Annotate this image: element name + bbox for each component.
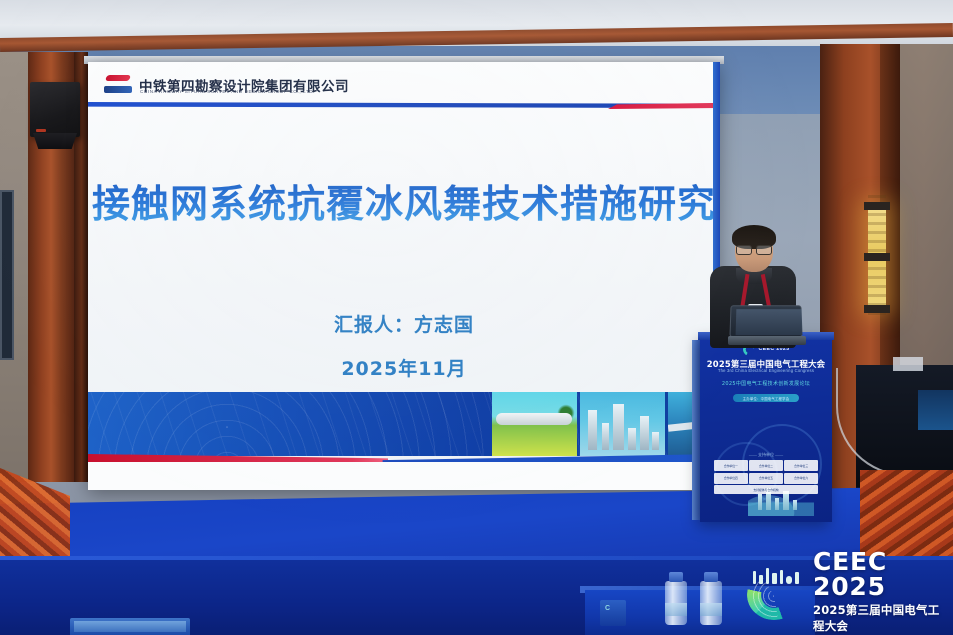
bottle-label (700, 603, 722, 616)
ceec-watermark: CEEC 2025 2025第三届中国电气工程大会 (745, 555, 945, 627)
projection-screen: 中铁第四勘察设计院集团有限公司 CHINA RAILWAY SIYUAN SUR… (88, 62, 720, 490)
laptop-base (728, 336, 806, 345)
photo-railway-station (492, 392, 577, 456)
sponsor-cell: 合作单位五 (749, 473, 783, 484)
left-doorway (0, 190, 14, 360)
glasses-icon (736, 245, 772, 253)
sponsor-cell: 合作单位二 (749, 460, 783, 471)
ceec-watermark-text: CEEC 2025 2025第三届中国电气工程大会 (813, 549, 945, 634)
water-bottle (700, 581, 722, 625)
ceiling-speaker-icon (30, 82, 80, 137)
wall-sconce-band (864, 253, 890, 261)
podium-subheading-cn: 2025中国电气工程技术创新发展论坛 (700, 380, 832, 387)
ceec-logo-icon (745, 560, 807, 622)
podium-organizer-pill: 主办单位：中国电气工程学会 (733, 394, 799, 402)
conference-room-scene: 中铁第四勘察设计院集团有限公司 CHINA RAILWAY SIYUAN SUR… (0, 0, 953, 635)
water-bottle (665, 581, 687, 625)
ceec-city-skyline-icon (749, 564, 803, 584)
ceiling-speaker-bracket-icon (33, 133, 77, 149)
slide-date: 2025年11月 (88, 354, 720, 381)
photo-city-skyline (580, 392, 665, 456)
podium-sponsor-grid: 合作单位一 合作单位二 合作单位三 合作单位四 合作单位五 合作单位六 支持媒体… (714, 460, 818, 494)
sponsor-cell: 合作单位六 (784, 473, 818, 484)
laptop-screen (736, 309, 803, 335)
sponsor-cell: 支持媒体与合作机构 (714, 485, 818, 494)
wall-sconce-cap-top (864, 202, 890, 210)
podium-heading-en: The 3rd China Electrical Engineering Con… (700, 368, 832, 373)
company-name-en: CHINA RAILWAY SIYUAN SURVEY AND DESIGN G… (140, 89, 315, 94)
railway-group-logo-icon (104, 72, 132, 98)
patterned-carpet-right (860, 470, 953, 558)
podium: CEEC 2025 2025第三届中国电气工程大会 The 3rd China … (700, 336, 832, 522)
podium-sponsor-divider: —— 支持单位 —— (700, 452, 832, 458)
podium-organizer-text: 主办单位：中国电气工程学会 (743, 396, 790, 401)
bottle-label (665, 603, 687, 616)
bottle-cap (704, 572, 718, 582)
bottle-cap (669, 572, 683, 582)
slide-bottom-margin (88, 462, 720, 490)
slide-presenter: 汇报人：方志国 (88, 310, 720, 337)
sponsor-cell: 合作单位三 (784, 460, 818, 471)
laptop-lid (729, 305, 802, 337)
sponsor-cell: 合作单位四 (714, 473, 748, 484)
slide-footer-photos (492, 392, 720, 456)
wall-sconce-cap-bottom (864, 305, 890, 313)
ceec-watermark-title: CEEC 2025 (813, 549, 945, 599)
stage-monitor-screen (70, 618, 190, 635)
slide-company-logo: 中铁第四勘察设计院集团有限公司 (104, 72, 349, 98)
presentation-slide: 中铁第四勘察设计院集团有限公司 CHINA RAILWAY SIYUAN SUR… (88, 62, 720, 490)
sponsor-cell: 合作单位一 (714, 460, 748, 471)
slide-title: 接触网系统抗覆冰风舞技术措施研究 (88, 182, 720, 228)
ceec-watermark-subtitle: 2025第三届中国电气工程大会 (813, 602, 945, 634)
stage-floor-box: C (600, 600, 626, 626)
laptop (728, 305, 806, 347)
header-red-stripe (608, 102, 720, 109)
